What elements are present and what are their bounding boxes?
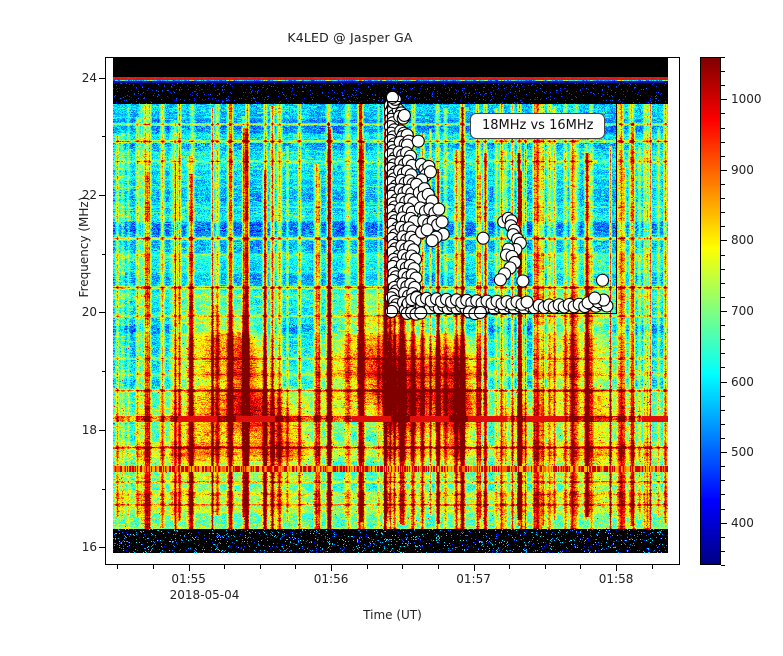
x-tick-minor [224, 565, 225, 569]
colorbar-tick-minor [721, 353, 725, 354]
colorbar-gradient [701, 58, 720, 564]
y-tick-major [99, 547, 105, 548]
colorbar-tick-minor [721, 367, 725, 368]
colorbar-tick-major [721, 99, 727, 100]
colorbar-tick-label: 700 [731, 304, 754, 318]
y-tick-label: 24 [57, 71, 97, 85]
x-tick-minor [438, 565, 439, 569]
colorbar-tick-minor [721, 57, 725, 58]
colorbar-tick-minor [721, 184, 725, 185]
annotation-label: 18MHz vs 16MHz [470, 113, 605, 139]
colorbar-tick-minor [721, 212, 725, 213]
y-tick-label: 16 [57, 540, 97, 554]
colorbar-tick-minor [721, 226, 725, 227]
colorbar-tick-minor [721, 283, 725, 284]
colorbar-tick-label: 1000 [731, 92, 762, 106]
colorbar-tick-major [721, 170, 727, 171]
y-tick-major [99, 430, 105, 431]
x-tick-label: 01:55 [171, 572, 206, 586]
x-axis-date-label: 2018-05-04 [170, 588, 240, 602]
colorbar-tick-minor [721, 128, 725, 129]
colorbar-tick-major [721, 240, 727, 241]
colorbar-tick-minor [721, 113, 725, 114]
colorbar-tick-minor [721, 565, 725, 566]
colorbar-tick-label: 500 [731, 445, 754, 459]
colorbar-tick-minor [721, 537, 725, 538]
x-tick-label: 01:58 [599, 572, 634, 586]
colorbar-tick-label: 800 [731, 233, 754, 247]
colorbar-tick-minor [721, 71, 725, 72]
colorbar-tick-minor [721, 156, 725, 157]
colorbar-tick-minor [721, 85, 725, 86]
y-tick-major [99, 195, 105, 196]
colorbar-tick-major [721, 523, 727, 524]
colorbar-tick-minor [721, 339, 725, 340]
x-axis-label: Time (UT) [105, 608, 680, 622]
colorbar-tick-minor [721, 198, 725, 199]
x-tick-major [189, 565, 190, 571]
y-tick-major [99, 78, 105, 79]
x-tick-minor [402, 565, 403, 569]
x-tick-minor [652, 565, 653, 569]
x-tick-major [616, 565, 617, 571]
y-tick-label: 20 [57, 305, 97, 319]
y-tick-label: 22 [57, 188, 97, 202]
x-tick-minor [545, 565, 546, 569]
y-tick-minor [102, 489, 106, 490]
colorbar-tick-minor [721, 424, 725, 425]
colorbar-tick-minor [721, 297, 725, 298]
y-tick-minor [102, 254, 106, 255]
y-tick-major [99, 312, 105, 313]
colorbar-tick-major [721, 382, 727, 383]
colorbar [700, 57, 721, 565]
colorbar-tick-minor [721, 269, 725, 270]
colorbar-tick-major [721, 452, 727, 453]
x-tick-minor [580, 565, 581, 569]
colorbar-tick-minor [721, 509, 725, 510]
x-tick-minor [153, 565, 154, 569]
colorbar-tick-minor [721, 410, 725, 411]
colorbar-tick-minor [721, 142, 725, 143]
colorbar-tick-minor [721, 396, 725, 397]
x-tick-major [474, 565, 475, 571]
colorbar-tick-major [721, 311, 727, 312]
y-tick-minor [102, 136, 106, 137]
colorbar-tick-minor [721, 255, 725, 256]
y-tick-label: 18 [57, 423, 97, 437]
x-tick-minor [295, 565, 296, 569]
colorbar-tick-label: 600 [731, 375, 754, 389]
colorbar-tick-minor [721, 480, 725, 481]
colorbar-tick-minor [721, 438, 725, 439]
x-tick-minor [509, 565, 510, 569]
colorbar-tick-minor [721, 325, 725, 326]
x-tick-major [331, 565, 332, 571]
x-tick-label: 01:57 [456, 572, 491, 586]
chart-title: K4LED @ Jasper GA [0, 30, 700, 45]
colorbar-tick-label: 400 [731, 516, 754, 530]
x-tick-minor [117, 565, 118, 569]
y-tick-minor [102, 371, 106, 372]
x-tick-minor [260, 565, 261, 569]
x-tick-label: 01:56 [314, 572, 349, 586]
figure-canvas: K4LED @ Jasper GA 18MHz vs 16MHz Frequen… [0, 0, 783, 656]
x-tick-minor [367, 565, 368, 569]
colorbar-tick-minor [721, 494, 725, 495]
colorbar-tick-label: 900 [731, 163, 754, 177]
colorbar-tick-minor [721, 466, 725, 467]
colorbar-tick-minor [721, 551, 725, 552]
